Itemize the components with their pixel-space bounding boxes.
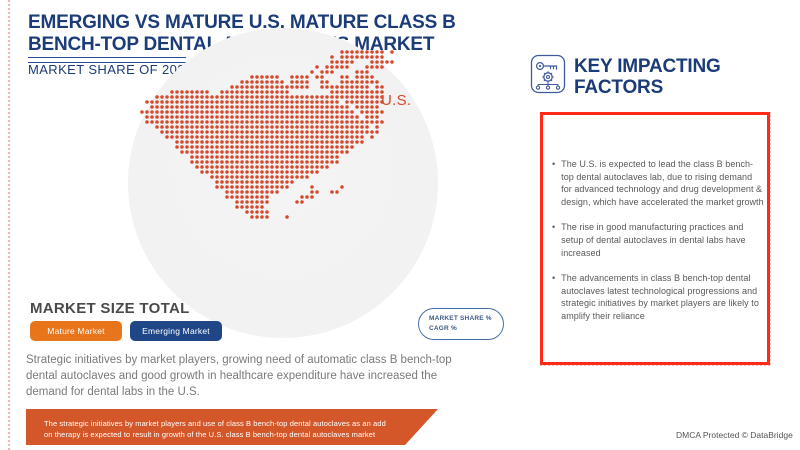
footer-credit: DMCA Protected © DataBridge [676,430,793,440]
infographic-page: EMERGING VS MATURE U.S. MATURE CLASS B B… [0,0,800,450]
key-factors-bullet-list: • The U.S. is expected to lead the class… [552,158,764,336]
market-legend: Mature Market Emerging Market [30,321,222,341]
market-size-total-heading: MARKET SIZE TOTAL [30,300,190,317]
highlight-banner-text: The strategic initiatives by market play… [44,418,394,440]
list-item-text: The advancements in class B bench-top de… [561,272,764,322]
legend-item-emerging-market[interactable]: Emerging Market [130,321,222,341]
bullet-marker-icon: • [552,272,555,322]
left-dotted-border [8,0,10,450]
market-share-percent-label: MARKET SHARE % [429,314,503,324]
legend-item-mature-market[interactable]: Mature Market [30,321,122,341]
key-impacting-factors-heading: KEY IMPACTING FACTORS [574,56,774,98]
share-cagr-badge: MARKET SHARE % CAGR % [418,308,504,340]
list-item: • The U.S. is expected to lead the class… [552,158,764,208]
map-region-label: U.S. [381,92,411,109]
list-item-text: The rise in good manufacturing practices… [561,221,764,259]
list-item-text: The U.S. is expected to lead the class B… [561,158,764,208]
list-item: • The advancements in class B bench-top … [552,272,764,322]
body-paragraph: Strategic initiatives by market players,… [26,352,478,400]
list-item: • The rise in good manufacturing practic… [552,221,764,259]
bullet-marker-icon: • [552,158,555,208]
key-gear-network-icon [530,54,566,94]
cagr-percent-label: CAGR % [429,324,503,334]
bullet-marker-icon: • [552,221,555,259]
